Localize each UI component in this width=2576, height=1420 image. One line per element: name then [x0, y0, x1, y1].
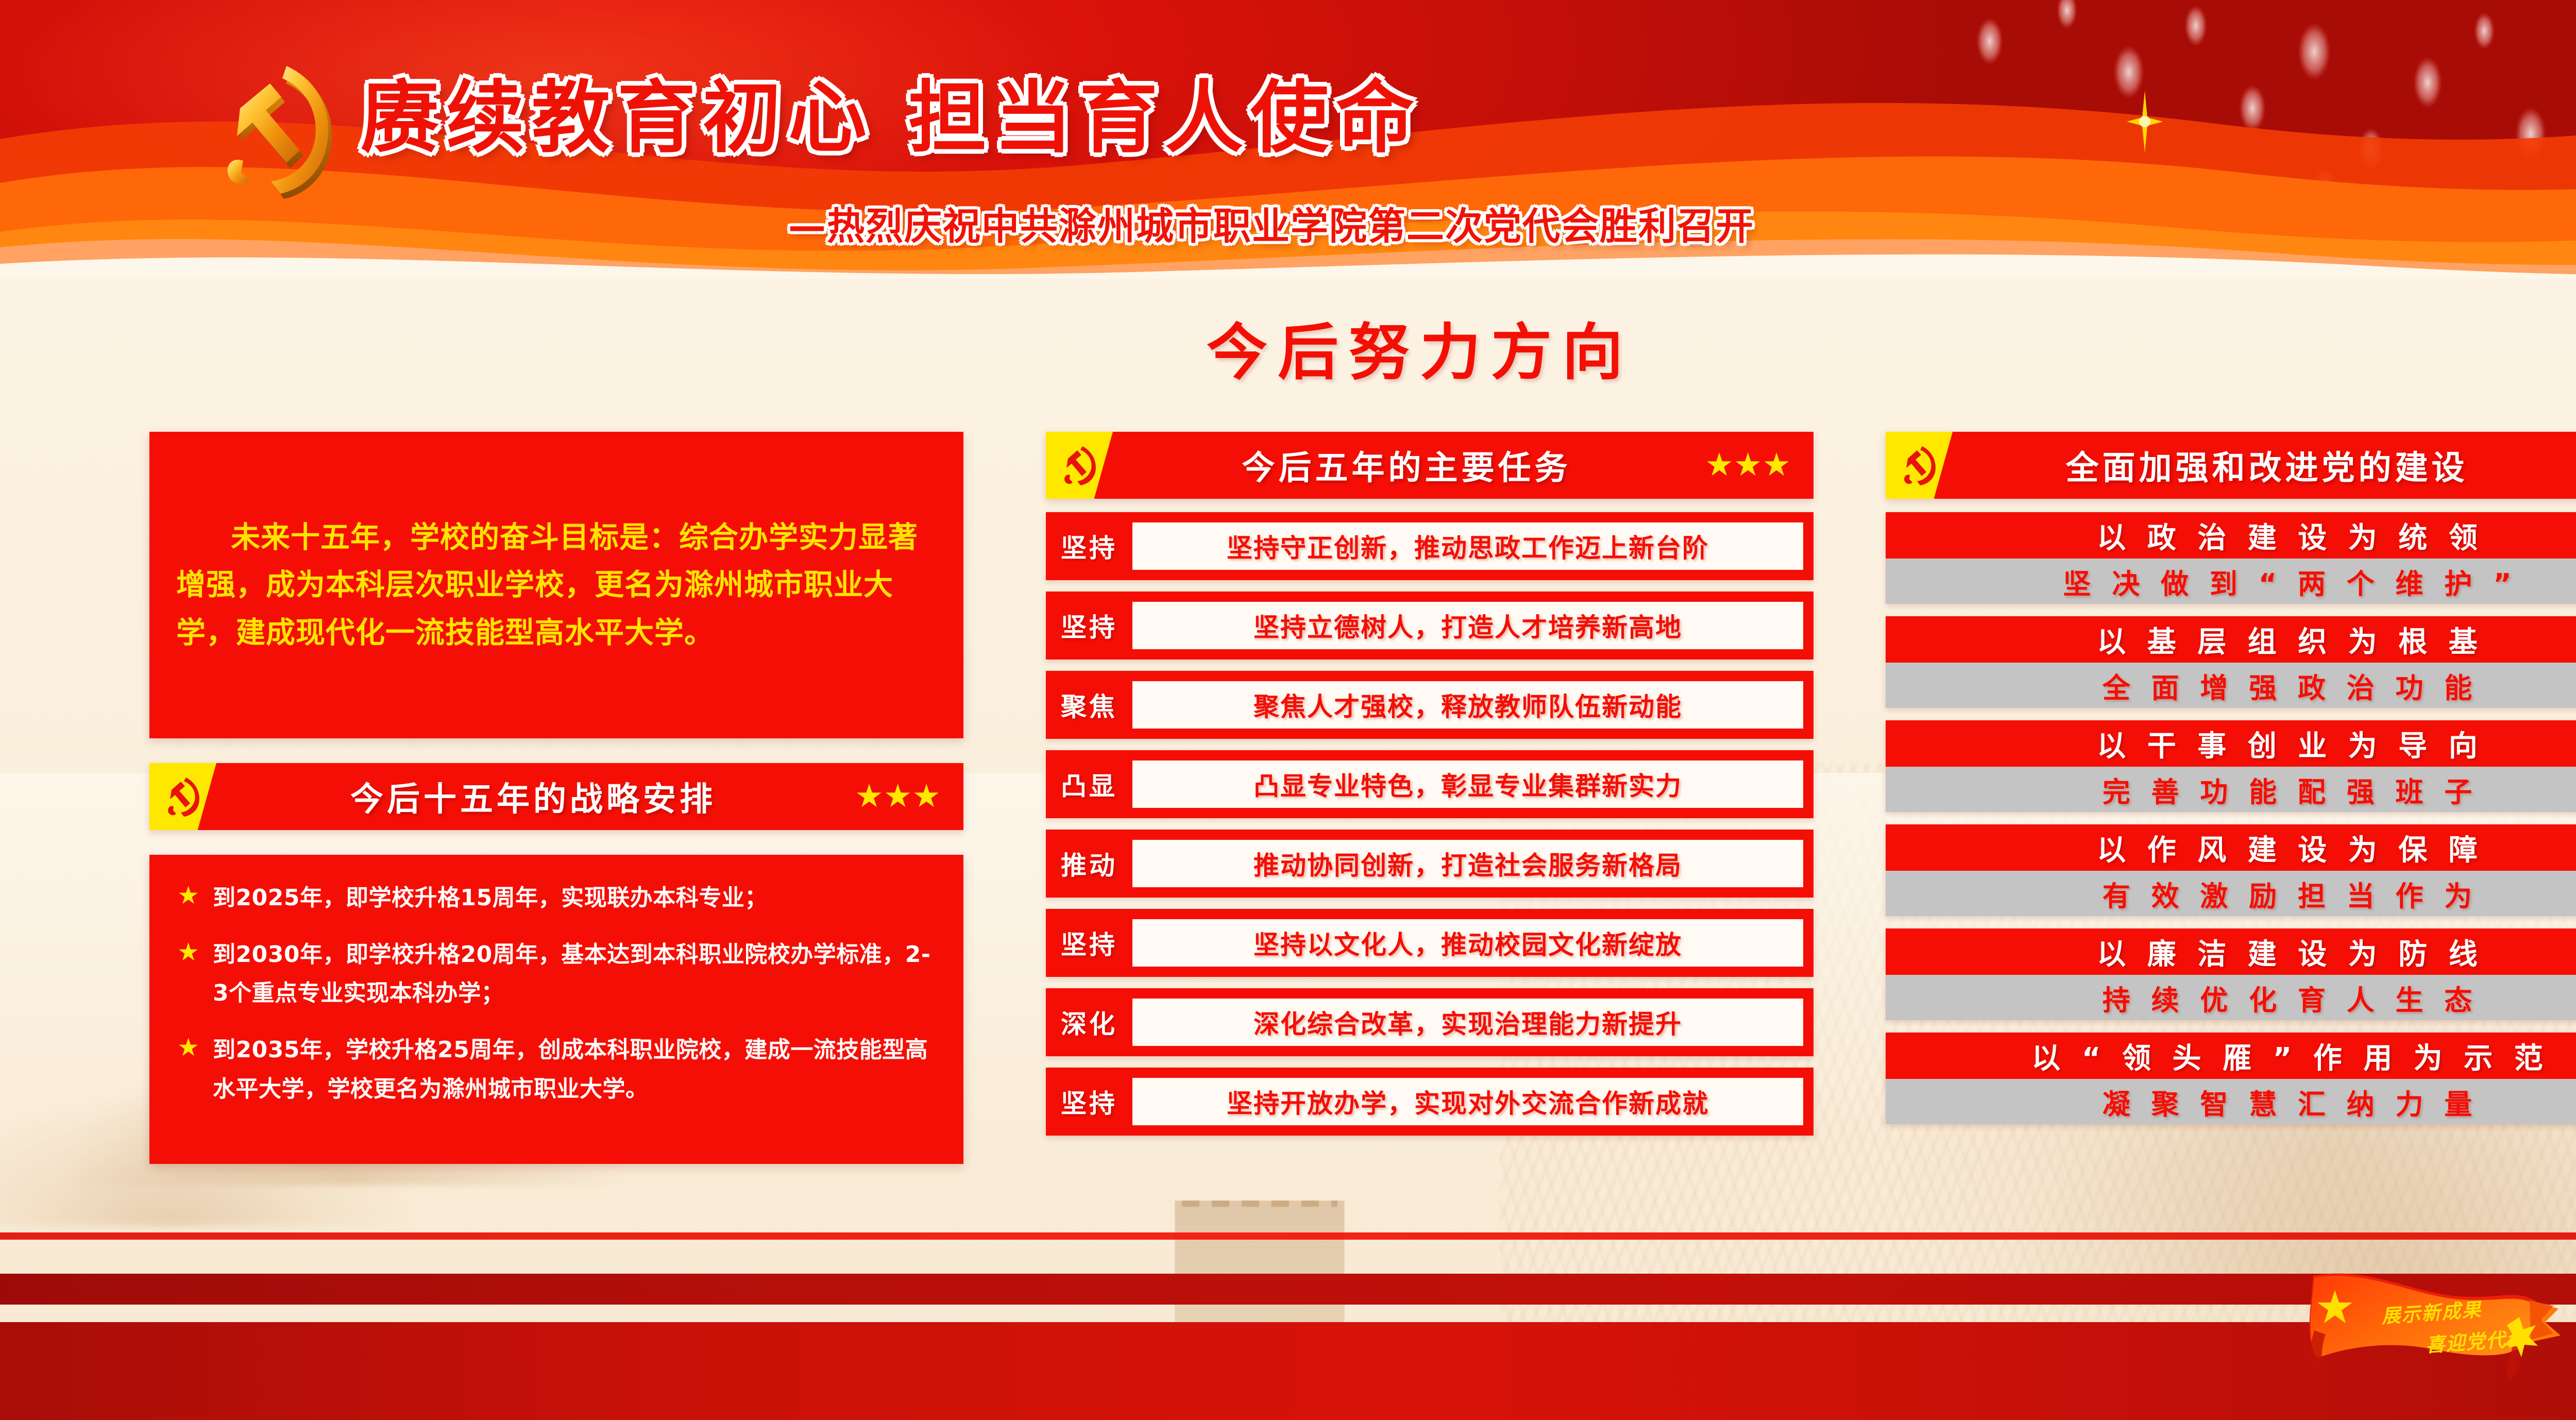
list-item: ★ 到2035年，学校升格25周年，创成本科职业院校，建成一流技能型高水平大学，…	[177, 1030, 936, 1108]
pair-primary: 以 “ 领 头 雁 ” 作 用 为 示 范	[1886, 1033, 2576, 1079]
pair-primary: 以 政 治 建 设 为 统 领	[1886, 512, 2576, 559]
task-body: 坚持立德树人，打造人才培养新高地	[1132, 602, 1803, 649]
list-item: 以 政 治 建 设 为 统 领 坚 决 做 到 “ 两 个 维 护 ”	[1886, 512, 2576, 604]
task-key: 坚持	[1046, 909, 1132, 977]
task-key: 深化	[1046, 988, 1132, 1056]
list-item: ★ 到2025年，即学校升格15周年，实现联办本科专业；	[177, 878, 936, 918]
task-body: 坚持守正创新，推动思政工作迈上新台阶	[1132, 522, 1803, 570]
pair-primary-text: 以 作 风 建 设 为 保 障	[2097, 827, 2483, 869]
star-bullet-icon: ★	[177, 935, 199, 970]
pair-primary-text: 以 廉 洁 建 设 为 防 线	[2097, 931, 2483, 973]
task-body: 坚持开放办学，实现对外交流合作新成就	[1132, 1078, 1803, 1125]
sparkle-icon	[2127, 91, 2163, 153]
task-text: 推动协同创新，打造社会服务新格局	[1253, 845, 1682, 882]
goal-paragraph: 未来十五年，学校的奋斗目标是：综合办学实力显著增强，成为本科层次职业学校，更名为…	[149, 514, 963, 656]
task-key: 坚持	[1046, 591, 1132, 660]
pair-secondary-text: 有 效 激 励 担 当 作 为	[2103, 873, 2478, 914]
list-item: 以 “ 领 头 雁 ” 作 用 为 示 范 凝 聚 智 慧 汇 纳 力 量	[1886, 1033, 2576, 1124]
task-body: 深化综合改革，实现治理能力新提升	[1132, 999, 1803, 1046]
table-row: 坚持 坚持以文化人，推动校园文化新绽放	[1046, 909, 1814, 977]
task-text: 深化综合改革，实现治理能力新提升	[1253, 1004, 1682, 1041]
celebration-ribbon: 展示新成果 喜迎党代会	[2303, 1269, 2576, 1397]
list-item: 以 基 层 组 织 为 根 基 全 面 增 强 政 治 功 能	[1886, 616, 2576, 708]
task-text: 聚焦人才强校，释放教师队伍新动能	[1253, 686, 1682, 723]
task-text: 坚持立德树人，打造人才培养新高地	[1253, 607, 1682, 644]
task-key: 推动	[1046, 830, 1132, 898]
pair-primary-text: 以 干 事 创 业 为 导 向	[2097, 723, 2483, 765]
task-text: 凸显专业特色，彰显专业集群新实力	[1253, 766, 1682, 803]
task-body: 坚持以文化人，推动校园文化新绽放	[1132, 919, 1803, 967]
task-list: 坚持 坚持守正创新，推动思政工作迈上新台阶 坚持 坚持立德树人，打造人才培养新高…	[1046, 512, 1814, 1136]
table-row: 坚持 坚持开放办学，实现对外交流合作新成就	[1046, 1068, 1814, 1136]
pair-secondary-text: 凝 聚 智 慧 汇 纳 力 量	[2103, 1081, 2478, 1122]
pair-primary: 以 干 事 创 业 为 导 向	[1886, 720, 2576, 767]
task-key: 聚焦	[1046, 671, 1132, 739]
pair-primary-text: 以 基 层 组 织 为 根 基	[2097, 619, 2483, 661]
task-key: 坚持	[1046, 512, 1132, 580]
star-bullet-icon: ★	[177, 1030, 199, 1066]
poster-header: 赓续教育初心 担当育人使命 —热烈庆祝中共滁州城市职业学院第二次党代会胜利召开	[0, 0, 2576, 278]
footer-band-main	[0, 1322, 2576, 1420]
pair-secondary: 完 善 功 能 配 强 班 子	[1886, 767, 2576, 812]
task-key: 坚持	[1046, 1068, 1132, 1136]
pair-primary: 以 基 层 组 织 为 根 基	[1886, 616, 2576, 663]
list-item: 以 干 事 创 业 为 导 向 完 善 功 能 配 强 班 子	[1886, 720, 2576, 812]
strategy-section-bar: 今后十五年的战略安排 ★★★	[149, 763, 963, 830]
tasks-bar-stars: ★★★	[1705, 432, 1791, 499]
table-row: 坚持 坚持守正创新，推动思政工作迈上新台阶	[1046, 512, 1814, 580]
poster-title: 赓续教育初心 担当育人使命	[361, 54, 1421, 167]
table-row: 凸显 凸显专业特色，彰显专业集群新实力	[1046, 750, 1814, 818]
task-key: 凸显	[1046, 750, 1132, 818]
pair-secondary: 持 续 优 化 育 人 生 态	[1886, 975, 2576, 1020]
table-row: 推动 推动协同创新，打造社会服务新格局	[1046, 830, 1814, 898]
list-item: ★ 到2030年，即学校升格20周年，基本达到本科职业院校办学标准，2-3个重点…	[177, 935, 936, 1013]
strategy-item-text: 到2030年，即学校升格20周年，基本达到本科职业院校办学标准，2-3个重点专业…	[213, 935, 936, 1013]
pair-primary: 以 廉 洁 建 设 为 防 线	[1886, 928, 2576, 975]
strategy-bar-title: 今后十五年的战略安排	[149, 773, 963, 820]
hammer-sickle-emblem	[205, 56, 344, 205]
task-text: 坚持守正创新，推动思政工作迈上新台阶	[1227, 528, 1709, 565]
footer-band-dark	[0, 1274, 2576, 1305]
pair-secondary-text: 坚 决 做 到 “ 两 个 维 护 ”	[2063, 561, 2517, 602]
poster-canvas: 赓续教育初心 担当育人使命 —热烈庆祝中共滁州城市职业学院第二次党代会胜利召开 …	[0, 0, 2576, 1420]
right-column: 全面加强和改进党的建设 ★★★ 以 政 治 建 设 为 统 领 坚 决 做 到 …	[1886, 432, 2576, 1137]
task-text: 坚持开放办学，实现对外交流合作新成就	[1227, 1083, 1709, 1120]
pair-secondary-text: 持 续 优 化 育 人 生 态	[2103, 977, 2478, 1018]
party-building-section-bar: 全面加强和改进党的建设 ★★★	[1886, 432, 2576, 499]
table-row: 聚焦 聚焦人才强校，释放教师队伍新动能	[1046, 671, 1814, 739]
strategy-item-text: 到2025年，即学校升格15周年，实现联办本科专业；	[213, 878, 768, 918]
left-column: 未来十五年，学校的奋斗目标是：综合办学实力显著增强，成为本科层次职业学校，更名为…	[149, 432, 963, 1164]
pair-secondary: 坚 决 做 到 “ 两 个 维 护 ”	[1886, 559, 2576, 604]
strategy-item-text: 到2035年，学校升格25周年，创成本科职业院校，建成一流技能型高水平大学，学校…	[213, 1030, 936, 1108]
table-row: 坚持 坚持立德树人，打造人才培养新高地	[1046, 591, 1814, 660]
pair-secondary: 全 面 增 强 政 治 功 能	[1886, 663, 2576, 708]
task-text: 坚持以文化人，推动校园文化新绽放	[1253, 924, 1682, 961]
pair-primary-text: 以 政 治 建 设 为 统 领	[2097, 515, 2483, 556]
tasks-section-bar: 今后五年的主要任务 ★★★	[1046, 432, 1814, 499]
strategy-list: ★ 到2025年，即学校升格15周年，实现联办本科专业； ★ 到2030年，即学…	[149, 855, 963, 1164]
page-title: 今后努力方向	[0, 303, 2576, 391]
task-body: 聚焦人才强校，释放教师队伍新动能	[1132, 681, 1803, 729]
pair-secondary-text: 完 善 功 能 配 强 班 子	[2103, 769, 2478, 810]
list-item: 以 廉 洁 建 设 为 防 线 持 续 优 化 育 人 生 态	[1886, 928, 2576, 1020]
goal-panel: 未来十五年，学校的奋斗目标是：综合办学实力显著增强，成为本科层次职业学校，更名为…	[149, 432, 963, 738]
party-building-bar-title: 全面加强和改进党的建设	[1886, 442, 2576, 489]
table-row: 深化 深化综合改革，实现治理能力新提升	[1046, 988, 1814, 1056]
pair-secondary-text: 全 面 增 强 政 治 功 能	[2103, 665, 2478, 706]
party-building-list: 以 政 治 建 设 为 统 领 坚 决 做 到 “ 两 个 维 护 ” 以 基 …	[1886, 512, 2576, 1124]
task-body: 凸显专业特色，彰显专业集群新实力	[1132, 760, 1803, 808]
poster-subtitle: —热烈庆祝中共滁州城市职业学院第二次党代会胜利召开	[788, 196, 1754, 250]
divider-band-thin	[0, 1232, 2576, 1240]
star-bullet-icon: ★	[177, 878, 199, 914]
middle-column: 今后五年的主要任务 ★★★ 坚持 坚持守正创新，推动思政工作迈上新台阶 坚持 坚…	[1046, 432, 1814, 1147]
pair-primary-text: 以 “ 领 头 雁 ” 作 用 为 示 范	[2031, 1035, 2549, 1077]
task-body: 推动协同创新，打造社会服务新格局	[1132, 840, 1803, 887]
tasks-bar-title: 今后五年的主要任务	[1046, 442, 1814, 489]
pair-secondary: 凝 聚 智 慧 汇 纳 力 量	[1886, 1079, 2576, 1124]
pair-primary: 以 作 风 建 设 为 保 障	[1886, 824, 2576, 871]
strategy-bar-stars: ★★★	[855, 763, 941, 830]
list-item: 以 作 风 建 设 为 保 障 有 效 激 励 担 当 作 为	[1886, 824, 2576, 916]
pair-secondary: 有 效 激 励 担 当 作 为	[1886, 871, 2576, 916]
